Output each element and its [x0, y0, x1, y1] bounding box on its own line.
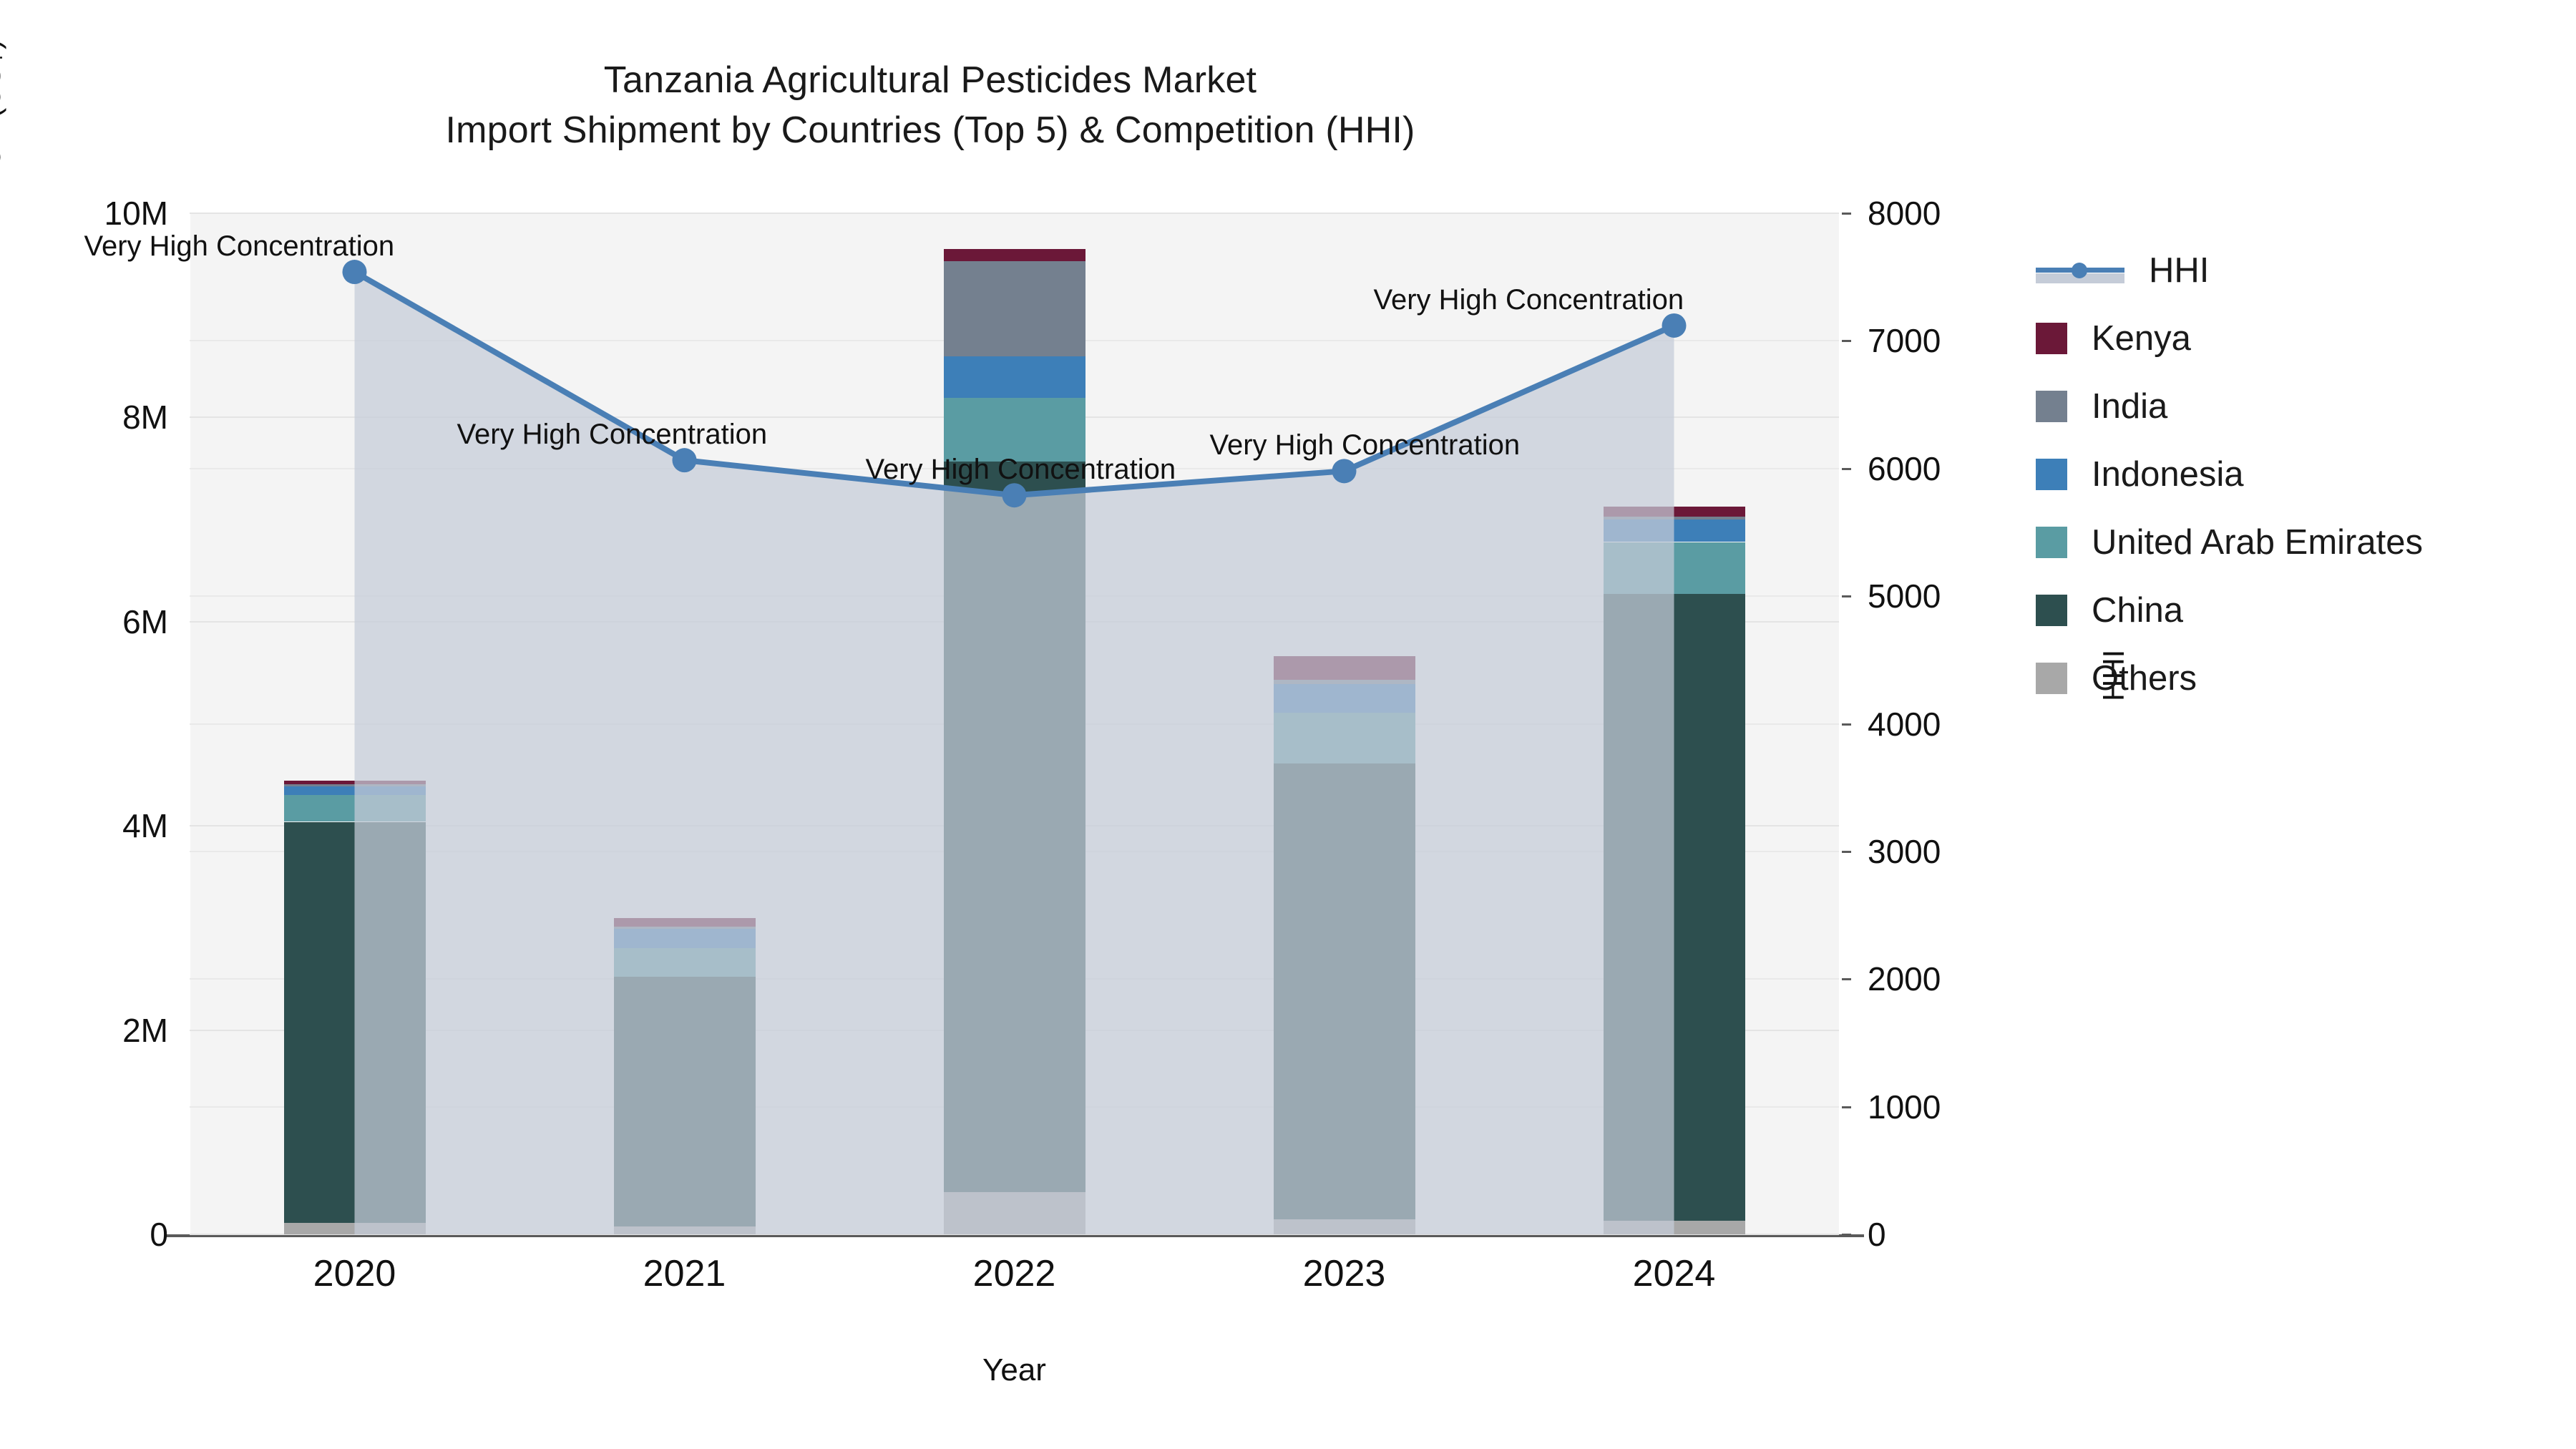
x-axis-tick-label: 2020: [313, 1252, 396, 1295]
y-axis-tick-label: 6M: [43, 602, 168, 641]
y2-axis-tickmark: [1842, 851, 1851, 853]
concentration-annotation: Very High Concentration: [84, 230, 395, 263]
legend-dot: [2072, 263, 2087, 278]
y2-axis-tickmark: [1842, 723, 1851, 726]
concentration-annotation: Very High Concentration: [1210, 429, 1521, 462]
concentration-annotation: Very High Concentration: [457, 419, 768, 451]
y2-axis-tickmark: [1842, 213, 1851, 215]
x-axis-title: Year: [0, 1352, 2029, 1388]
y-axis-tick-label: 8M: [43, 398, 168, 436]
concentration-annotation: Very High Concentration: [866, 454, 1176, 486]
legend-color-swatch: [2036, 663, 2067, 694]
legend-color-swatch: [2036, 595, 2067, 626]
hhi-data-point[interactable]: [1332, 459, 1357, 483]
hhi-area-fill: [355, 272, 1674, 1234]
y2-axis-tickmark: [1842, 340, 1851, 342]
y-axis-tick-label: 0: [43, 1215, 168, 1254]
x-axis-tick-label: 2021: [643, 1252, 726, 1295]
y-axis-title: TRADE VALUE (US$): [0, 0, 7, 401]
y2-axis-tickmark: [1842, 978, 1851, 980]
legend-line-marker-icon: [2036, 255, 2124, 286]
y2-axis-tick-label: 7000: [1868, 321, 1941, 360]
chart-canvas: Tanzania Agricultural Pesticides Market …: [0, 0, 2576, 1449]
legend-item[interactable]: Kenya: [2036, 304, 2423, 372]
legend-item[interactable]: India: [2036, 372, 2423, 440]
legend: HHIKenyaIndiaIndonesiaUnited Arab Emirat…: [2036, 236, 2423, 712]
legend-item[interactable]: United Arab Emirates: [2036, 508, 2423, 576]
chart-title-block: Tanzania Agricultural Pesticides Market …: [0, 56, 1860, 155]
legend-color-swatch: [2036, 323, 2067, 354]
legend-item-label: China: [2092, 590, 2183, 630]
y2-axis-tick-label: 3000: [1868, 832, 1941, 871]
chart-subtitle: Import Shipment by Countries (Top 5) & C…: [0, 106, 1860, 156]
concentration-annotation: Very High Concentration: [1374, 284, 1684, 316]
legend-item[interactable]: HHI: [2036, 236, 2423, 304]
legend-color-swatch: [2036, 459, 2067, 490]
legend-item[interactable]: Indonesia: [2036, 440, 2423, 508]
y2-axis-tickmark: [1842, 595, 1851, 597]
x-axis-tick-label: 2023: [1303, 1252, 1386, 1295]
y-axis-tick-label: 2M: [43, 1011, 168, 1050]
x-axis-tick-label: 2024: [1633, 1252, 1716, 1295]
y2-axis-tick-label: 8000: [1868, 194, 1941, 233]
y2-axis-tick-label: 4000: [1868, 705, 1941, 743]
hhi-data-point[interactable]: [1002, 483, 1027, 507]
legend-item-label: United Arab Emirates: [2092, 522, 2423, 562]
y2-axis-tick-label: 5000: [1868, 577, 1941, 615]
y2-axis-tickmark: [1842, 1234, 1851, 1236]
legend-item-label: India: [2092, 386, 2167, 426]
y2-axis-tick-label: 1000: [1868, 1088, 1941, 1126]
legend-color-swatch: [2036, 527, 2067, 558]
legend-item[interactable]: China: [2036, 576, 2423, 644]
legend-item[interactable]: Others: [2036, 644, 2423, 712]
legend-item-label: Others: [2092, 658, 2197, 698]
hhi-line-layer: [190, 213, 1839, 1234]
y2-axis-tickmark: [1842, 1106, 1851, 1108]
hhi-data-point[interactable]: [343, 260, 367, 284]
hhi-data-point[interactable]: [673, 448, 697, 472]
y2-axis-tick-label: 2000: [1868, 960, 1941, 998]
legend-item-label: Indonesia: [2092, 454, 2244, 494]
x-axis-tick-label: 2022: [973, 1252, 1056, 1295]
hhi-data-point[interactable]: [1662, 313, 1687, 338]
y2-axis-tick-label: 0: [1868, 1215, 1886, 1254]
legend-color-swatch: [2036, 391, 2067, 422]
y-axis-tick-label: 10M: [43, 194, 168, 233]
y2-axis-tick-label: 6000: [1868, 449, 1941, 488]
legend-item-label: Kenya: [2092, 318, 2191, 358]
y-axis-tick-label: 4M: [43, 806, 168, 845]
chart-title: Tanzania Agricultural Pesticides Market: [0, 56, 1860, 106]
y2-axis-tickmark: [1842, 468, 1851, 470]
legend-item-label: HHI: [2149, 250, 2209, 291]
